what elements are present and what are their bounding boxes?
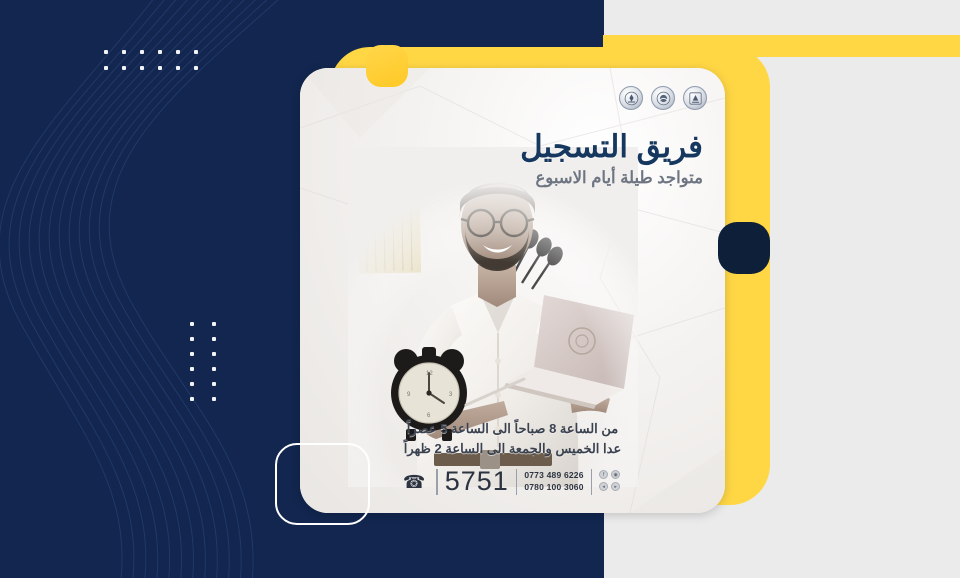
dot <box>104 50 108 54</box>
phone-number-2[interactable]: 0780 100 3060 <box>524 482 583 493</box>
navy-squircle-accent <box>718 222 770 274</box>
dot <box>158 66 162 70</box>
dot <box>212 397 216 401</box>
emblem-glyph-3 <box>688 91 703 106</box>
hours-line-1: من الساعة 8 صباحاً الى الساعة 5 عصراً <box>300 419 725 439</box>
social-icons: f ◉ ◂ ▸ <box>599 470 622 493</box>
page-title: فريق التسجيل <box>520 130 703 164</box>
dot <box>158 50 162 54</box>
phone-numbers: 0773 489 6226 0780 100 3060 <box>524 470 583 492</box>
dot-grid-left-decoration <box>190 322 234 412</box>
dot <box>122 66 126 70</box>
dot <box>190 352 194 356</box>
phone-number-1[interactable]: 0773 489 6226 <box>524 470 583 481</box>
dot <box>212 382 216 386</box>
institution-logo-3 <box>683 86 707 110</box>
phone-handset-icon: ☎ <box>403 473 425 491</box>
dot <box>190 397 194 401</box>
facebook-icon[interactable]: f <box>599 470 608 479</box>
dot <box>212 352 216 356</box>
dot <box>190 337 194 341</box>
dot <box>212 322 216 326</box>
dot <box>104 66 108 70</box>
dot <box>122 50 126 54</box>
institution-logos <box>619 86 707 110</box>
white-outline-shape-decoration <box>275 443 370 525</box>
dot <box>212 337 216 341</box>
dot <box>194 66 198 70</box>
yellow-squircle-accent <box>366 45 408 87</box>
heading-block: فريق التسجيل متواجد طيلة أيام الاسبوع <box>520 130 703 189</box>
dot <box>212 367 216 371</box>
dot <box>190 322 194 326</box>
dot <box>190 367 194 371</box>
dot <box>140 66 144 70</box>
divider <box>591 469 593 495</box>
youtube-icon[interactable]: ▸ <box>611 482 620 491</box>
dot <box>176 50 180 54</box>
institution-logo-2 <box>651 86 675 110</box>
instagram-icon[interactable]: ◉ <box>611 470 620 479</box>
dot <box>194 50 198 54</box>
dot <box>176 66 180 70</box>
shortcode-number[interactable]: 5751 <box>445 468 509 495</box>
dot <box>140 50 144 54</box>
divider <box>436 469 438 495</box>
institution-logo-1 <box>619 86 643 110</box>
emblem-glyph-1 <box>624 91 639 106</box>
dot <box>190 382 194 386</box>
divider <box>516 469 518 495</box>
telegram-icon[interactable]: ◂ <box>599 482 608 491</box>
poster-card: فريق التسجيل متواجد طيلة أيام الاسبوع <box>300 68 725 513</box>
emblem-glyph-2 <box>656 91 671 106</box>
page-subtitle: متواجد طيلة أيام الاسبوع <box>520 169 703 189</box>
dot-grid-top-decoration <box>104 50 212 82</box>
